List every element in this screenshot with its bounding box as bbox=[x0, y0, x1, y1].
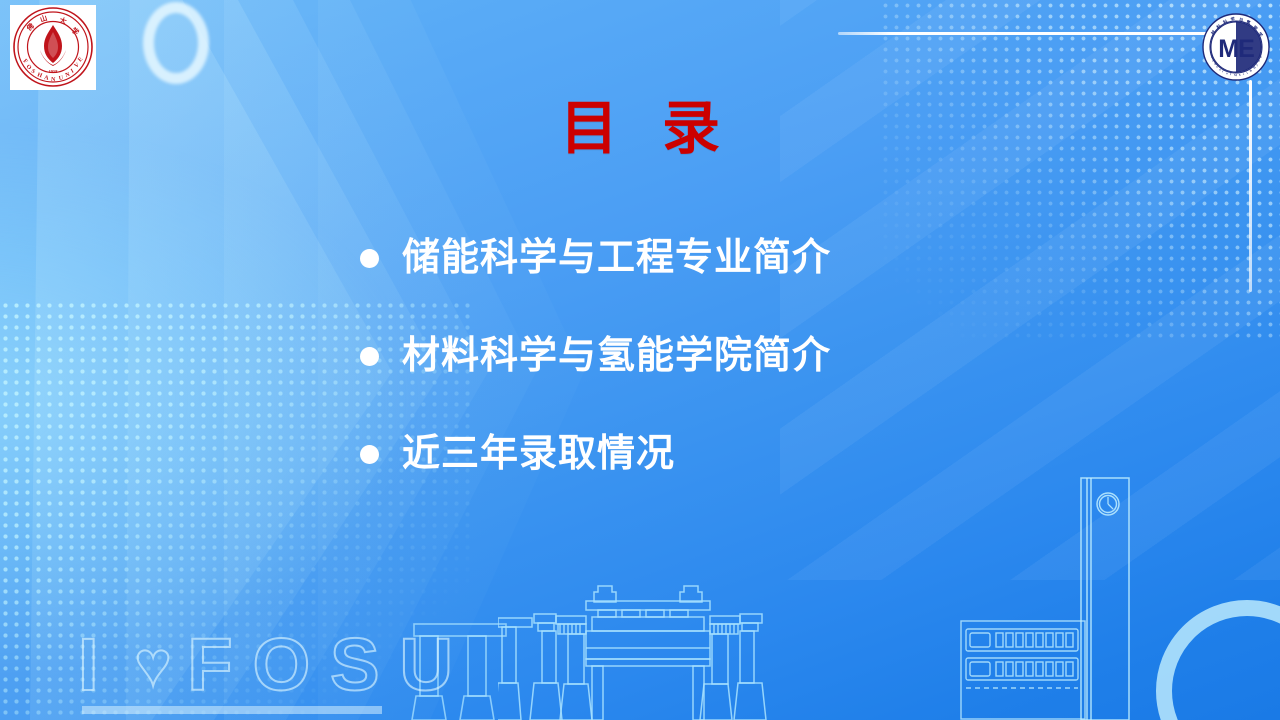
presentation-slide: I ♥ FOSU 佛 山 大 学 1958 F O bbox=[0, 0, 1280, 720]
toc-item-label: 材料科学与氢能学院简介 bbox=[402, 337, 831, 375]
table-of-contents: 储能科学与工程专业简介 材料科学与氢能学院简介 近三年录取情况 bbox=[360, 232, 980, 526]
svg-text:1958: 1958 bbox=[49, 69, 59, 74]
bullet-icon bbox=[360, 249, 379, 268]
header-horizontal-rule bbox=[838, 32, 1218, 35]
svg-text:I: I bbox=[70, 68, 75, 75]
bullet-icon bbox=[360, 347, 379, 366]
ring-decoration-top-left bbox=[143, 2, 209, 84]
page-title: 目 录 bbox=[0, 96, 1280, 163]
svg-text:M: M bbox=[1234, 73, 1237, 77]
svg-text:A: A bbox=[44, 75, 50, 82]
campus-building-illustration bbox=[960, 620, 1086, 720]
svg-text:大: 大 bbox=[58, 15, 67, 26]
paifang-side-left-illustration bbox=[410, 620, 510, 720]
heart-icon: ♥ bbox=[135, 634, 172, 696]
clock-tower-illustration bbox=[1078, 476, 1132, 720]
foshan-university-logo: 佛 山 大 学 1958 F O S H A N U N I V E bbox=[10, 5, 96, 90]
watermark-underline-bar bbox=[82, 706, 382, 714]
watermark-letters: FOSU bbox=[187, 628, 473, 702]
watermark-letter-i: I bbox=[78, 628, 119, 702]
toc-item-3[interactable]: 近三年录取情况 bbox=[360, 428, 980, 480]
bullet-icon bbox=[360, 445, 379, 464]
materials-school-logo: ME 材 料 科 学 与 氢 能 学 S c h o o l o f M bbox=[1202, 13, 1270, 81]
fosu-watermark: I ♥ FOSU bbox=[78, 628, 473, 702]
svg-text:学: 学 bbox=[70, 25, 81, 36]
paifang-gate-illustration bbox=[498, 582, 798, 720]
toc-item-2[interactable]: 材料科学与氢能学院简介 bbox=[360, 330, 980, 382]
toc-item-label: 储能科学与工程专业简介 bbox=[402, 239, 831, 277]
left-glow-decoration bbox=[0, 120, 420, 680]
svg-text:U: U bbox=[58, 75, 64, 82]
svg-text:E: E bbox=[77, 56, 84, 63]
toc-item-label: 近三年录取情况 bbox=[402, 435, 675, 473]
ring-decoration-bottom-right bbox=[1156, 600, 1280, 720]
svg-text:佛: 佛 bbox=[24, 21, 36, 33]
toc-item-1[interactable]: 储能科学与工程专业简介 bbox=[360, 232, 980, 284]
svg-text:ME: ME bbox=[1218, 35, 1254, 63]
